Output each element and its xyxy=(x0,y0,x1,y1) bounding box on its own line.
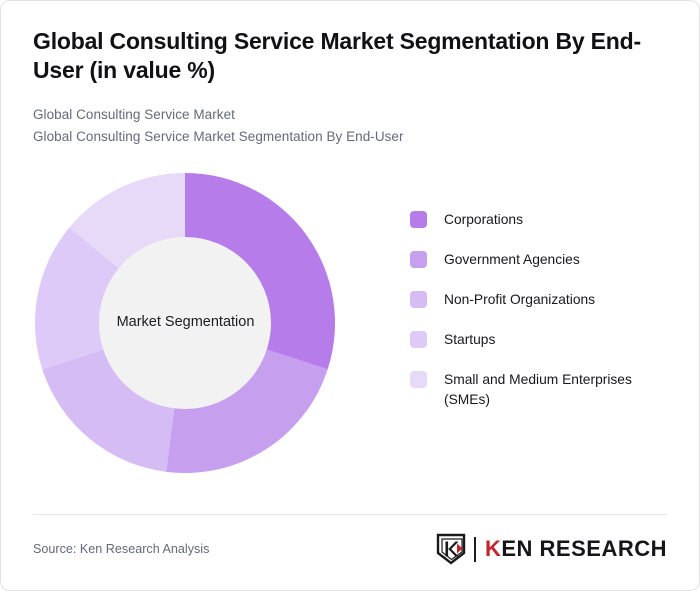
subtitle-block: Global Consulting Service Market Global … xyxy=(33,104,667,148)
legend-item-label: Small and Medium Enterprises (SMEs) xyxy=(444,370,659,410)
legend-item[interactable]: Startups xyxy=(410,330,667,350)
chart-header: Global Consulting Service Market Segment… xyxy=(1,1,699,148)
legend-item-label: Government Agencies xyxy=(444,250,580,270)
logo-wordmark-rest: EN RESEARCH xyxy=(501,536,667,561)
page-title: Global Consulting Service Market Segment… xyxy=(33,27,653,86)
legend-swatch-icon xyxy=(410,211,427,228)
ken-research-shield-icon xyxy=(436,533,466,565)
legend-swatch-icon xyxy=(410,251,427,268)
logo-wordmark-lead: K xyxy=(485,536,501,561)
legend-swatch-icon xyxy=(410,291,427,308)
legend-item[interactable]: Corporations xyxy=(410,210,667,230)
donut-hole xyxy=(99,237,271,409)
legend-item[interactable]: Small and Medium Enterprises (SMEs) xyxy=(410,370,667,410)
subtitle-line-1: Global Consulting Service Market xyxy=(33,104,667,126)
legend-item[interactable]: Non-Profit Organizations xyxy=(410,290,667,310)
legend-swatch-icon xyxy=(410,331,427,348)
donut-svg xyxy=(33,162,338,484)
legend-item-label: Corporations xyxy=(444,210,523,230)
logo-wordmark: KEN RESEARCH xyxy=(485,536,667,562)
legend-item-label: Non-Profit Organizations xyxy=(444,290,595,310)
logo-divider xyxy=(474,537,476,562)
chart-body: Market Segmentation CorporationsGovernme… xyxy=(1,162,699,492)
donut-chart: Market Segmentation xyxy=(33,162,338,484)
legend-item-label: Startups xyxy=(444,330,495,350)
legend-swatch-icon xyxy=(410,371,427,388)
chart-legend: CorporationsGovernment AgenciesNon-Profi… xyxy=(410,210,667,430)
source-text: Source: Ken Research Analysis xyxy=(33,542,209,556)
subtitle-line-2: Global Consulting Service Market Segment… xyxy=(33,126,667,148)
ken-research-logo: KEN RESEARCH xyxy=(436,533,667,565)
legend-item[interactable]: Government Agencies xyxy=(410,250,667,270)
chart-card: Global Consulting Service Market Segment… xyxy=(0,0,700,591)
chart-footer: Source: Ken Research Analysis KEN RESEAR… xyxy=(33,514,667,584)
